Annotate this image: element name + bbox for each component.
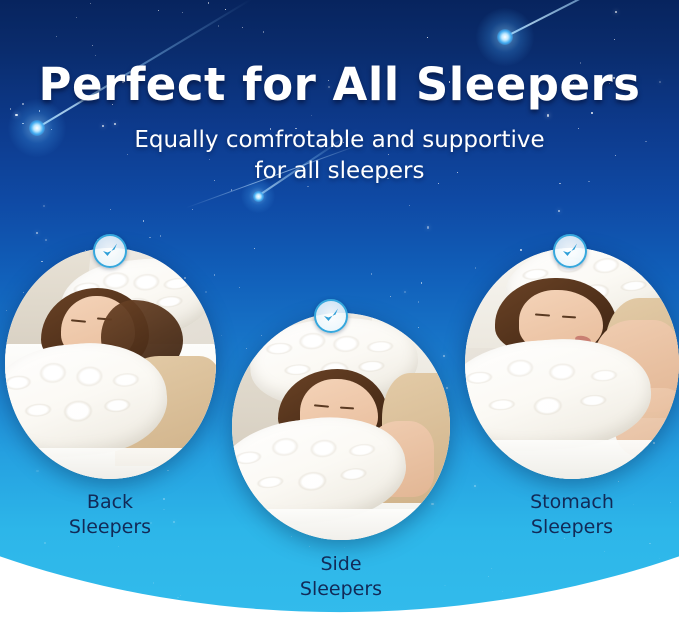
star: [502, 591, 503, 592]
star: [649, 543, 650, 544]
star: [44, 542, 45, 543]
page-subtitle: Equally comfrotable and supportive for a…: [0, 125, 679, 187]
star: [547, 114, 549, 116]
subtitle-line-2: for all sleepers: [0, 156, 679, 187]
caption-side-sleepers: Side Sleepers: [231, 552, 451, 602]
caption-side-line-2: Sleepers: [231, 577, 451, 602]
star: [208, 2, 209, 3]
check-badge-side-sleepers: [314, 299, 348, 333]
star: [76, 17, 77, 18]
check-circle-icon: [560, 241, 580, 261]
check-badge-back-sleepers: [93, 234, 127, 268]
star: [611, 599, 612, 600]
star: [218, 25, 219, 26]
page-title: Perfect for All Sleepers: [0, 58, 679, 111]
star: [311, 115, 312, 116]
star: [118, 546, 119, 547]
star: [143, 220, 144, 221]
subtitle-line-1: Equally comfrotable and supportive: [134, 127, 544, 153]
star: [474, 485, 476, 487]
star: [371, 273, 372, 274]
star: [421, 282, 422, 283]
star: [491, 568, 492, 569]
photo-circle-stomach-sleepers: [465, 248, 679, 479]
star: [618, 481, 619, 482]
photo-circle-back-sleepers: [5, 248, 216, 479]
star: [427, 226, 429, 228]
photo-side-sleepers: [232, 313, 450, 540]
star: [239, 287, 240, 288]
photo-back-sleepers: [5, 248, 216, 479]
star: [225, 9, 226, 10]
check-badge-stomach-sleepers: [553, 234, 587, 268]
star: [409, 205, 410, 206]
star: [182, 12, 183, 13]
star: [390, 296, 391, 297]
caption-back-sleepers: Back Sleepers: [0, 490, 220, 540]
star: [615, 11, 617, 13]
star: [263, 31, 264, 32]
star: [95, 55, 96, 56]
star: [158, 10, 159, 11]
caption-stomach-line-2: Sleepers: [462, 515, 679, 540]
star: [192, 209, 193, 210]
caption-back-line-1: Back: [0, 490, 220, 515]
star: [659, 558, 660, 559]
star: [614, 39, 615, 40]
star: [221, 335, 222, 336]
star: [149, 237, 150, 238]
star: [92, 45, 93, 46]
infographic-banner: Perfect for All Sleepers Equally comfrot…: [0, 0, 679, 631]
star: [254, 248, 255, 249]
star: [309, 546, 310, 547]
check-circle-icon: [100, 241, 120, 261]
star: [56, 36, 57, 37]
star: [604, 551, 605, 552]
star: [90, 3, 91, 4]
photo-circle-side-sleepers: [232, 313, 450, 540]
star: [43, 205, 45, 207]
star: [404, 291, 406, 293]
star: [110, 209, 111, 210]
star: [344, 547, 345, 548]
star: [591, 112, 592, 113]
star: [36, 232, 38, 234]
photo-stomach-sleepers: [465, 248, 679, 479]
star: [153, 582, 154, 583]
star: [180, 595, 181, 596]
caption-stomach-sleepers: Stomach Sleepers: [462, 490, 679, 540]
star: [160, 235, 161, 236]
caption-stomach-line-1: Stomach: [462, 490, 679, 515]
check-circle-icon: [321, 306, 341, 326]
star: [418, 301, 419, 302]
star: [558, 210, 560, 212]
star: [45, 239, 47, 241]
caption-side-line-1: Side: [231, 552, 451, 577]
caption-back-line-2: Sleepers: [0, 515, 220, 540]
star: [427, 37, 428, 38]
star: [488, 576, 489, 577]
star: [242, 27, 243, 28]
star: [177, 597, 178, 598]
